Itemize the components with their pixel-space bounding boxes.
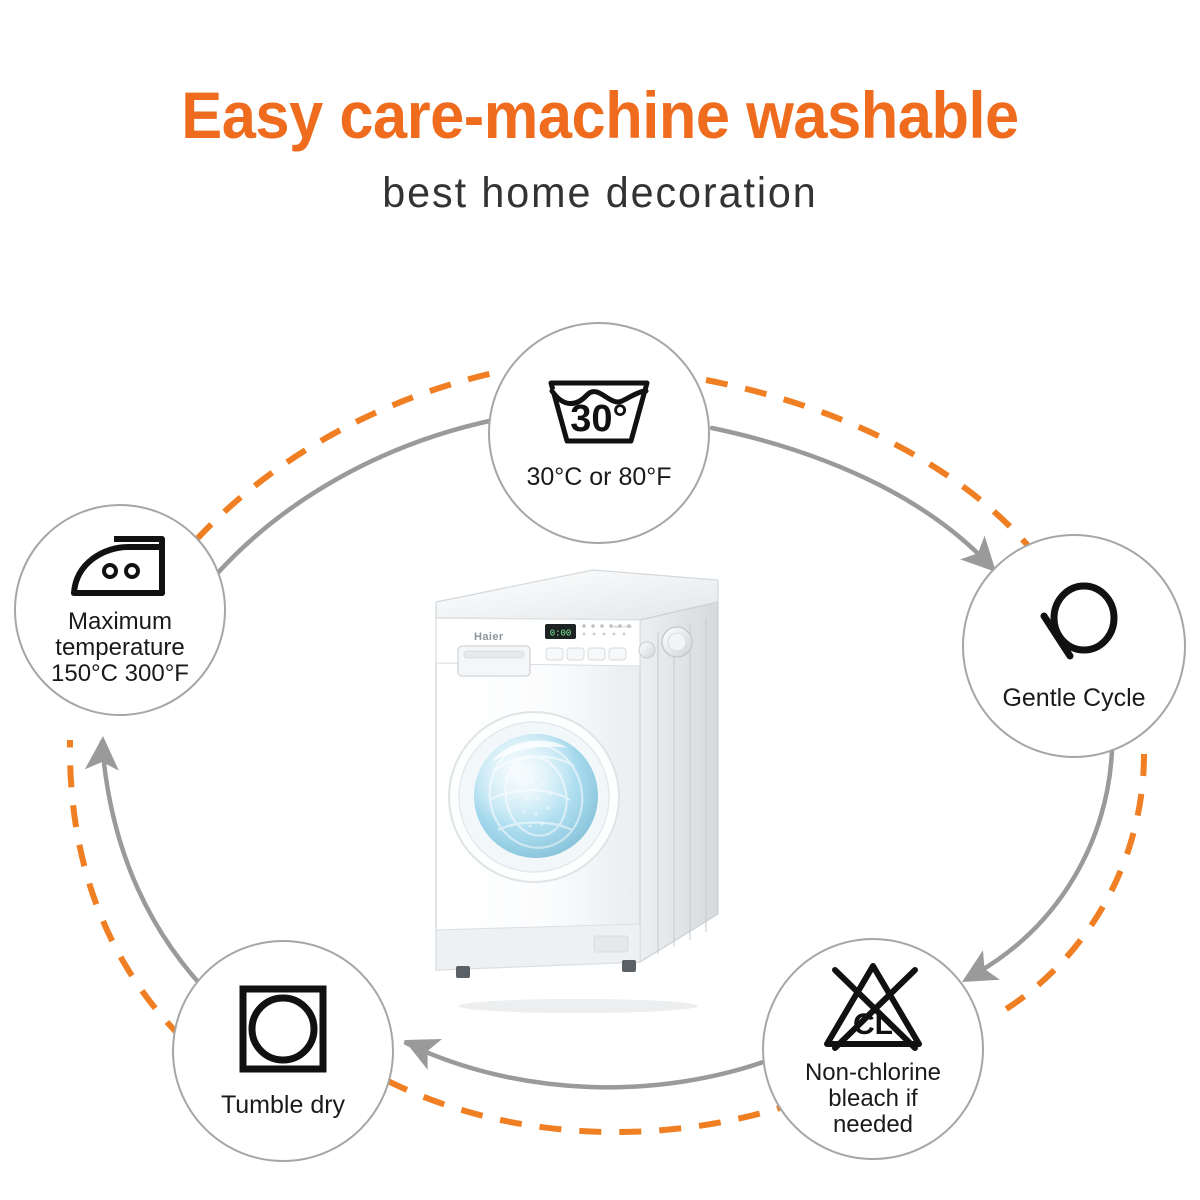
wash-tub-icon: 30°	[543, 375, 655, 451]
dash-arc-iron-to-wash	[196, 372, 498, 540]
model-label: HW60-1201D	[611, 625, 632, 629]
control-button-2[interactable]	[567, 648, 584, 660]
care-node-wash-label: 30°C or 80°F	[526, 463, 671, 491]
program-dial-inner	[668, 633, 686, 651]
arc-tumble-to-iron	[102, 742, 215, 1000]
arc-iron-to-wash	[215, 420, 494, 576]
washer-shadow	[458, 999, 698, 1013]
temperature-knob[interactable]	[639, 642, 655, 658]
dash-arc-tumble-to-iron	[70, 740, 182, 1038]
gentle-cycle-icon	[1022, 580, 1126, 670]
washer-filter-flap[interactable]	[594, 936, 628, 952]
detergent-drawer-handle[interactable]	[464, 651, 524, 658]
control-button-3[interactable]	[588, 648, 605, 660]
care-node-wash-temperature[interactable]: 30° 30°C or 80°F	[488, 322, 710, 544]
non-chlorine-bleach-icon: CL	[821, 960, 925, 1054]
infographic-canvas: Easy care-machine washable best home dec…	[0, 0, 1200, 1200]
washing-machine-image: Haier 0:00 HW60-1201D	[418, 562, 738, 1014]
arc-wash-to-gentle	[712, 428, 993, 569]
brand-logo: Haier	[474, 631, 504, 643]
washer-door-glass	[474, 734, 598, 858]
care-node-iron[interactable]: Maximum temperature 150°C 300°F	[14, 504, 226, 716]
care-node-iron-label: Maximum temperature 150°C 300°F	[51, 609, 189, 687]
arrowhead-into-tumble	[397, 1025, 442, 1070]
svg-text:30°: 30°	[570, 398, 627, 440]
dash-arc-wash-to-gentle	[706, 380, 1030, 548]
care-node-gentle-cycle[interactable]: Gentle Cycle	[962, 534, 1186, 758]
care-node-gentle-label: Gentle Cycle	[1002, 684, 1145, 712]
care-node-tumble-label: Tumble dry	[221, 1091, 345, 1119]
washer-foot-left	[456, 966, 470, 978]
iron-two-dots-icon	[66, 533, 174, 603]
care-node-tumble-dry[interactable]: Tumble dry	[172, 940, 394, 1162]
arc-bleach-to-tumble	[406, 1043, 772, 1087]
control-button-1[interactable]	[546, 648, 563, 660]
control-button-4[interactable]	[609, 648, 626, 660]
care-node-bleach[interactable]: CL Non-chlorine bleach if needed	[762, 938, 984, 1160]
detergent-drawer[interactable]	[458, 646, 530, 676]
led-display-value: 0:00	[550, 629, 572, 639]
care-node-bleach-label: Non-chlorine bleach if needed	[805, 1060, 941, 1138]
washer-foot-right	[622, 960, 636, 972]
arc-gentle-to-bleach	[977, 750, 1112, 973]
tumble-dry-icon	[237, 983, 329, 1075]
